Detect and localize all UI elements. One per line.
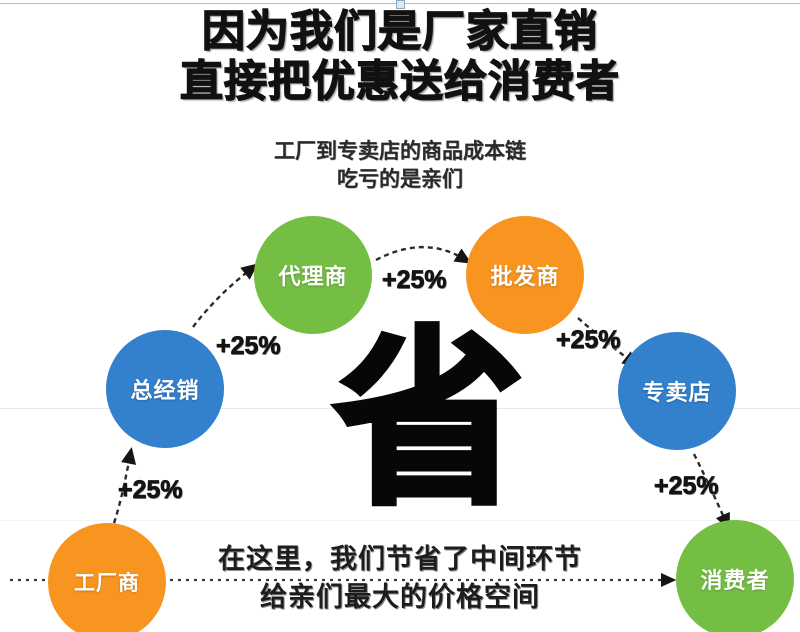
node-retail-store[interactable]: 专卖店 (618, 332, 736, 450)
bottom-slogan: 在这里，我们节省了中间环节 给亲们最大的价格空间 (0, 540, 800, 617)
node-agent-label: 代理商 (278, 259, 347, 291)
headline-line-2: 直接把优惠送给消费者 (0, 58, 800, 106)
markup-wholesale-to-store: +25% (556, 326, 621, 355)
slogan-line-1: 在这里，我们节省了中间环节 (0, 540, 800, 578)
node-retail-store-label: 专卖店 (642, 375, 711, 407)
markup-agent-to-wholesale: +25% (382, 266, 447, 295)
headline-line-1: 因为我们是厂家直销 (0, 8, 800, 56)
node-general-distributor-label: 总经销 (130, 373, 199, 405)
subtitle-line-2: 吃亏的是亲们 (0, 166, 800, 194)
headline: 因为我们是厂家直销 直接把优惠送给消费者 (0, 8, 800, 106)
markup-general-to-agent: +25% (216, 332, 281, 361)
markup-factory-to-general: +25% (118, 476, 183, 505)
subtitle-line-1: 工厂到专卖店的商品成本链 (0, 138, 800, 166)
node-wholesaler-label: 批发商 (490, 259, 559, 291)
slogan-line-2: 给亲们最大的价格空间 (0, 578, 800, 616)
subtitle: 工厂到专卖店的商品成本链 吃亏的是亲们 (0, 138, 800, 195)
arrow-general-to-agent (193, 269, 251, 327)
node-agent[interactable]: 代理商 (254, 216, 372, 334)
center-glyph-save: 省 (334, 330, 504, 520)
node-wholesaler[interactable]: 批发商 (466, 216, 584, 334)
node-general-distributor[interactable]: 总经销 (106, 330, 224, 448)
arrow-agent-to-wholesale (376, 247, 464, 260)
markup-store-to-consumer: +25% (654, 472, 719, 501)
infographic-canvas: 因为我们是厂家直销 直接把优惠送给消费者 工厂到专卖店的商品成本链 吃亏的是亲们… (0, 0, 800, 632)
